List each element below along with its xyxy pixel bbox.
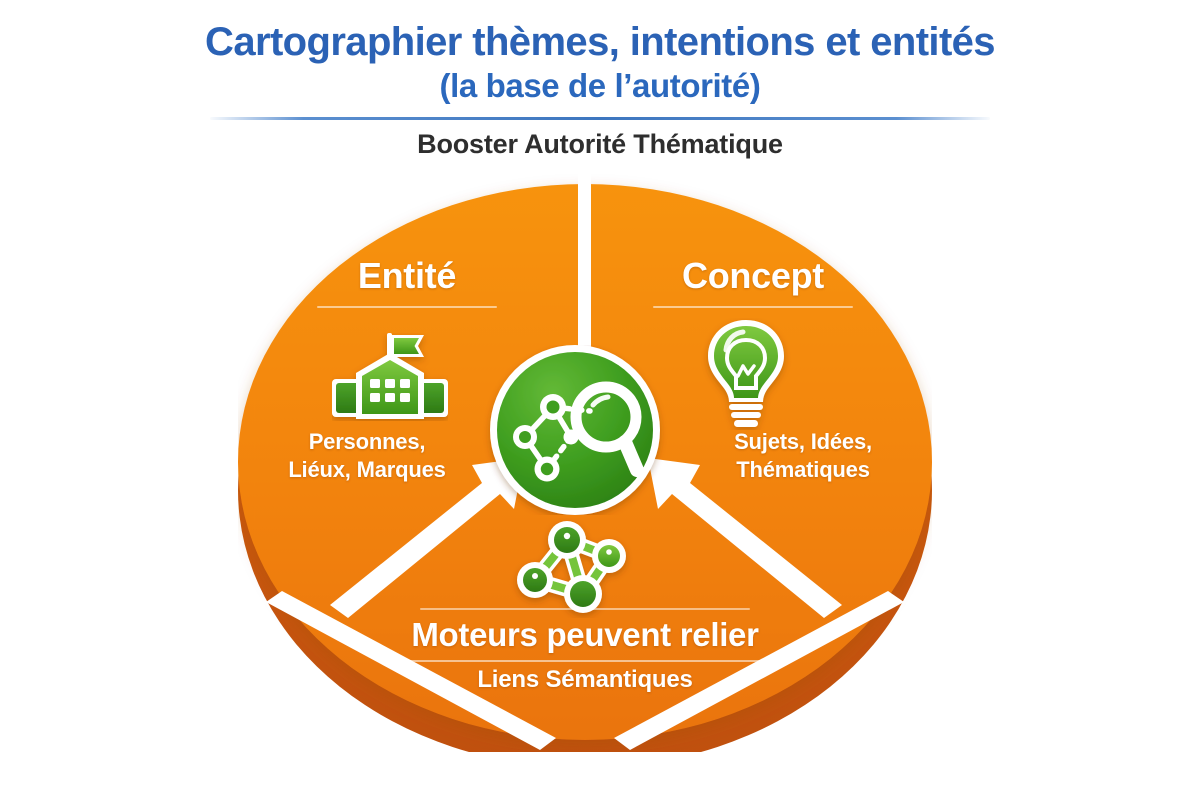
page-subtitle: Booster Autorité Thématique xyxy=(0,129,1200,160)
segment-liens-rule xyxy=(385,660,785,662)
segment-concept-heading: Concept xyxy=(608,258,898,294)
header: Cartographier thèmes, intentions et enti… xyxy=(0,0,1200,104)
segment-concept-subtext-line1: Sujets, Idées, xyxy=(688,428,918,456)
institution-building-flag-icon xyxy=(332,333,448,421)
segment-liens-subtext-line1: Liens Sémantiques xyxy=(375,665,795,695)
segment-liens-subtext-group: Liens Sémantiques xyxy=(375,665,795,695)
lightbulb-idea-svg xyxy=(700,318,792,430)
segment-concept-subtext-line2: Thématiques xyxy=(688,456,918,484)
segment-liens-heading-group: Moteurs peuvent relier xyxy=(350,608,820,662)
institution-building-flag-svg xyxy=(332,333,448,421)
segment-liens-rule-top xyxy=(420,608,750,610)
segment-entite-subtext-line2: Liéux, Marques xyxy=(252,456,482,484)
segment-entite-subtext-line1: Personnes, xyxy=(252,428,482,456)
page-title-line2: (la base de l’autorité) xyxy=(0,64,1200,104)
semantic-network-nodes-svg xyxy=(505,518,635,618)
segment-concept-rule xyxy=(653,306,853,308)
semantic-network-nodes-icon xyxy=(505,518,635,618)
segment-concept-subtext-group: Sujets, Idées, Thématiques xyxy=(688,428,918,483)
segment-liens-heading: Moteurs peuvent relier xyxy=(350,618,820,651)
segment-entite-subtext-group: Personnes, Liéux, Marques xyxy=(252,428,482,483)
title-divider xyxy=(210,117,990,120)
lightbulb-idea-icon xyxy=(700,318,792,430)
hub-node xyxy=(475,345,675,515)
hub-svg xyxy=(475,345,675,515)
segment-concept-heading-group: Concept xyxy=(608,258,898,308)
segment-entite-heading: Entité xyxy=(262,258,552,294)
page-title-line1: Cartographier thèmes, intentions et enti… xyxy=(0,0,1200,64)
segment-entite-rule xyxy=(317,306,497,308)
segment-entite-heading-group: Entité xyxy=(262,258,552,308)
